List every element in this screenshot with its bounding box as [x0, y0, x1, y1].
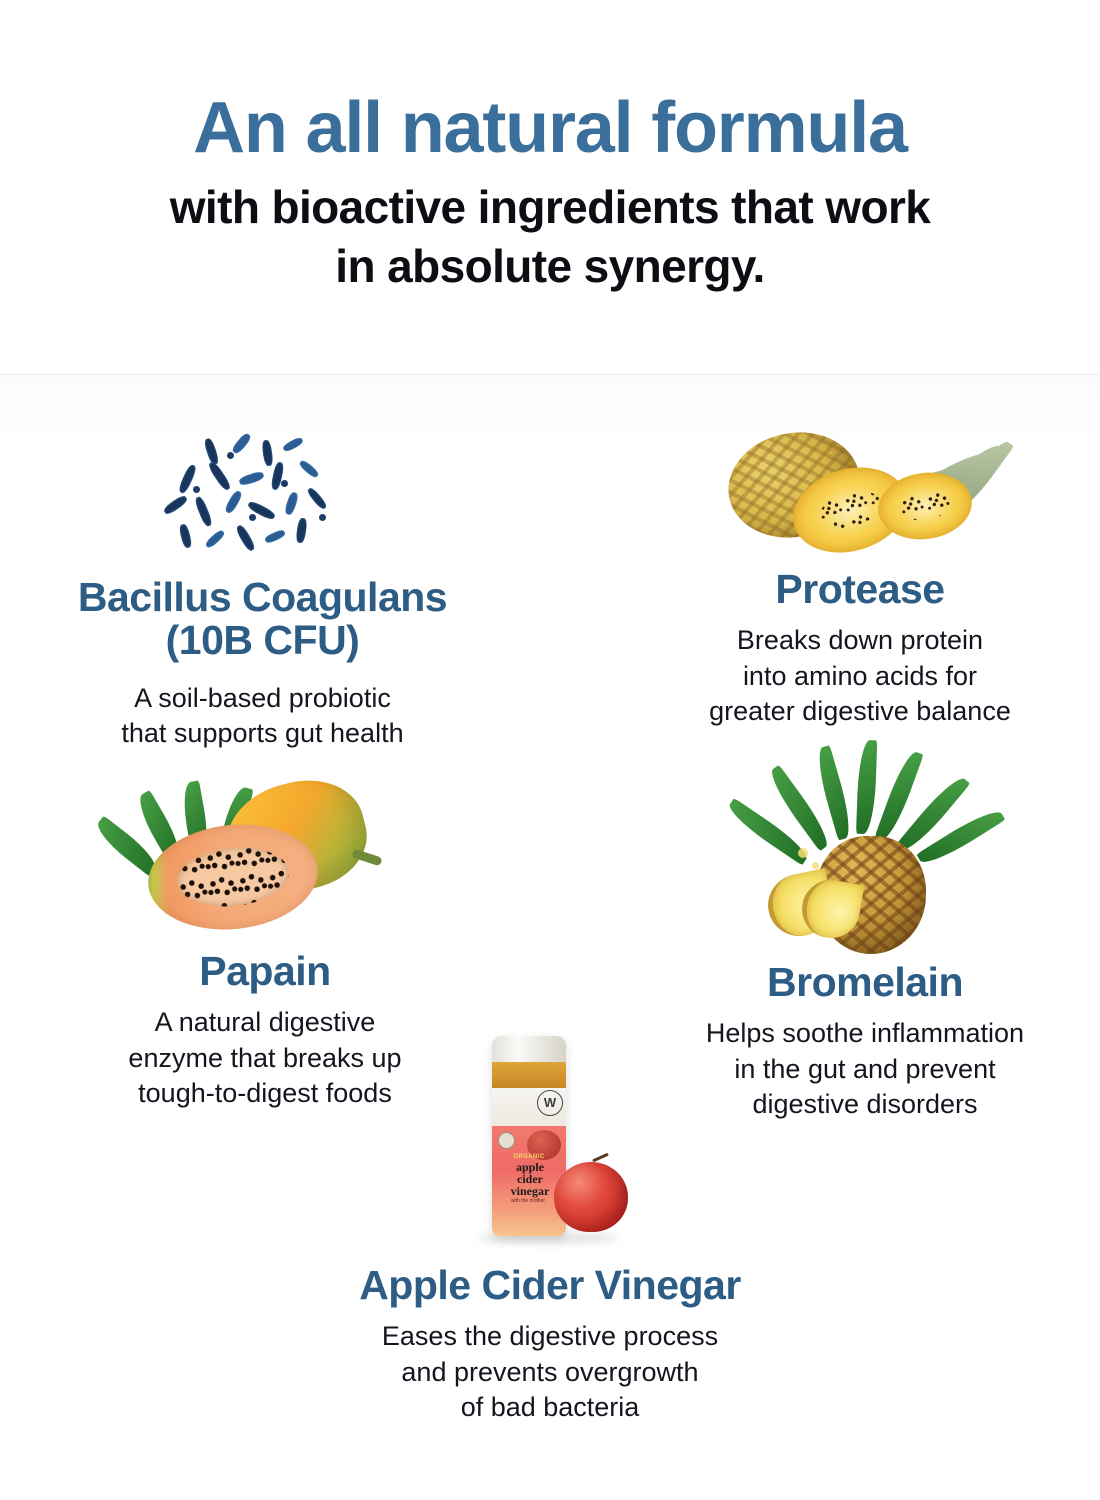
- ingredient-title: Papain: [55, 950, 475, 993]
- ingredient-description: Eases the digestive process and prevents…: [255, 1319, 845, 1424]
- ingredient-description-line-2: into amino acids for: [743, 661, 977, 691]
- papaya-icon: [140, 775, 390, 940]
- apple-stem: [592, 1153, 609, 1163]
- ingredient-card-bacillus-coagulans: Bacillus Coagulans (10B CFU) A soil-base…: [10, 430, 515, 751]
- ingredient-title: Bacillus Coagulans (10B CFU): [10, 576, 515, 663]
- bottle-cap: [492, 1036, 566, 1062]
- ingredient-description-line-2: that supports gut health: [121, 718, 403, 748]
- bacteria-rods-icon: [163, 430, 363, 560]
- apple-fruit: [554, 1162, 628, 1232]
- pineapple-papaya-icon: [710, 395, 1010, 560]
- ingredient-title: Bromelain: [635, 961, 1095, 1004]
- ingredient-description-line-3: greater digestive balance: [709, 696, 1011, 726]
- ingredient-description-line-3: of bad bacteria: [461, 1392, 640, 1422]
- juice-droplet: [812, 862, 819, 869]
- ingredient-card-apple-cider-vinegar: ORGANIC apple cider vinegar with the mot…: [255, 1030, 845, 1425]
- ingredient-title: Apple Cider Vinegar: [255, 1264, 845, 1307]
- pineapple-icon: [768, 740, 963, 955]
- page-subtitle-line-2: in absolute synergy.: [335, 240, 764, 292]
- ingredient-title-line-2: (10B CFU): [166, 617, 360, 663]
- ingredient-title-line-1: Bacillus Coagulans: [78, 574, 447, 620]
- header-banner: An all natural formula with bioactive in…: [0, 0, 1100, 375]
- usda-organic-badge: [498, 1132, 515, 1149]
- brand-logo-icon: W: [537, 1090, 563, 1116]
- page-subtitle-line-1: with bioactive ingredients that work: [170, 181, 931, 233]
- ingredient-card-protease: Protease Breaks down protein into amino …: [630, 395, 1090, 729]
- ingredient-description-line-1: A soil-based probiotic: [134, 683, 391, 713]
- ingredient-description-line-1: Breaks down protein: [737, 625, 983, 655]
- acv-bottle-apple-icon: ORGANIC apple cider vinegar with the mot…: [450, 1030, 650, 1252]
- juice-droplet: [798, 848, 808, 858]
- label-name-line-3: vinegar: [511, 1184, 550, 1198]
- ingredient-description-line-2: and prevents overgrowth: [401, 1357, 698, 1387]
- ingredient-description: A soil-based probiotic that supports gut…: [10, 681, 515, 751]
- ingredient-title: Protease: [630, 568, 1090, 611]
- page-title: An all natural formula: [0, 92, 1100, 164]
- page-subtitle: with bioactive ingredients that work in …: [0, 178, 1100, 296]
- ingredient-description: Breaks down protein into amino acids for…: [630, 623, 1090, 728]
- ingredient-description-line-1: Eases the digestive process: [382, 1321, 718, 1351]
- label-product-name: apple cider vinegar: [498, 1161, 562, 1198]
- papaya-seed-cavity: [174, 842, 292, 912]
- ingredients-section: Bacillus Coagulans (10B CFU) A soil-base…: [0, 375, 1100, 1500]
- label-sub-text: with the mother: [498, 1198, 558, 1205]
